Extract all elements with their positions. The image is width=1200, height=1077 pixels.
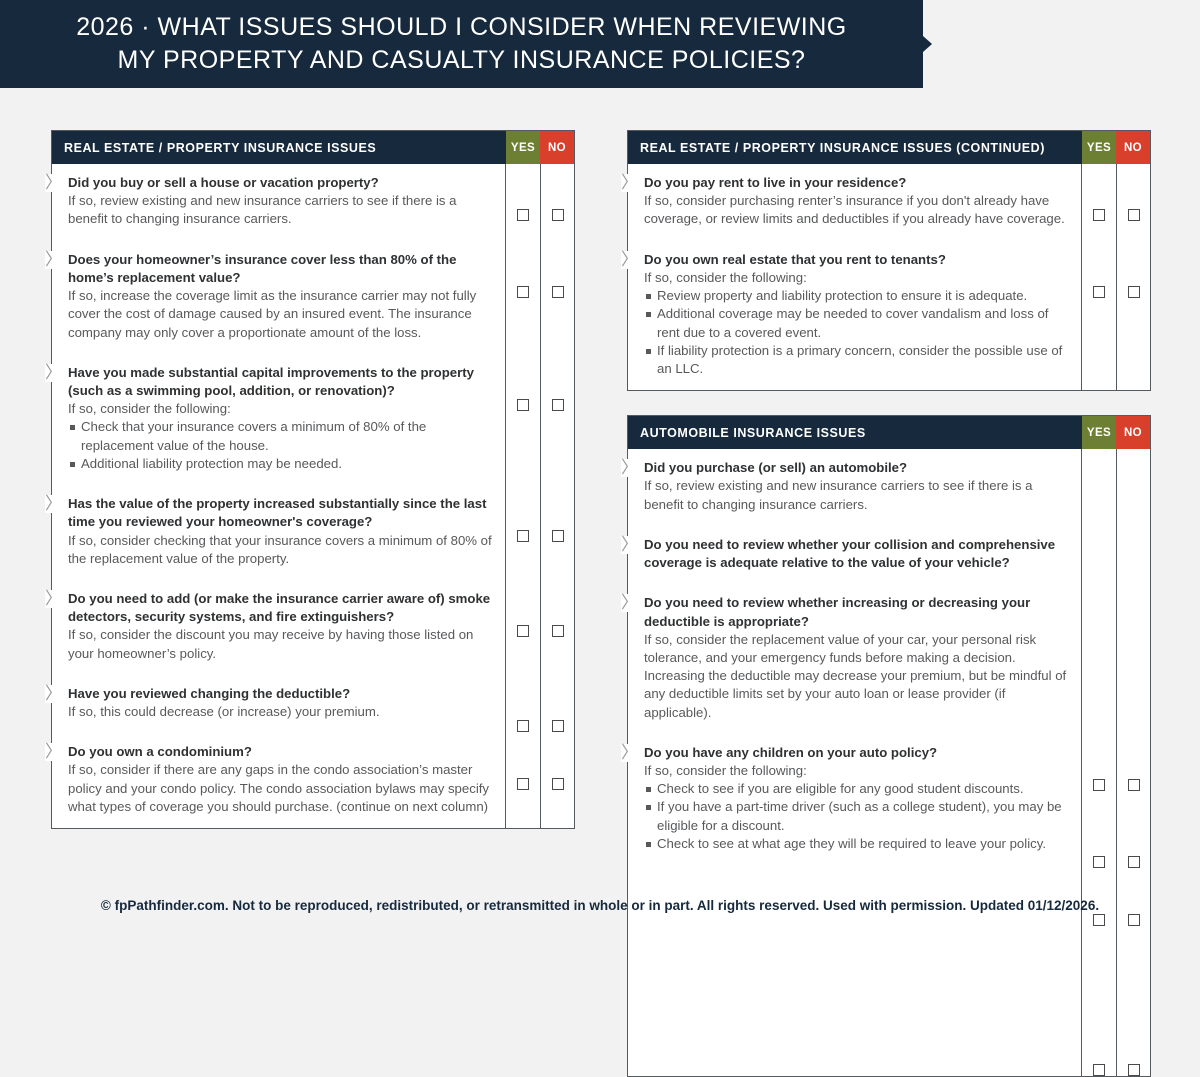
column-header-yes: YES xyxy=(506,131,540,164)
checkbox-cell-yes xyxy=(1082,1064,1116,1076)
no-checkbox[interactable] xyxy=(1128,209,1140,221)
checklist-row: 〉Has the value of the property increased… xyxy=(52,485,505,580)
question-text: Have you reviewed changing the deductibl… xyxy=(68,685,495,703)
no-checkbox[interactable] xyxy=(552,286,564,298)
footer-copyright: © fpPathfinder.com. Not to be reproduced… xyxy=(0,898,1200,913)
checklist-row: 〉Have you reviewed changing the deductib… xyxy=(52,675,505,733)
no-checkbox[interactable] xyxy=(552,625,564,637)
yes-checkbox[interactable] xyxy=(1093,1064,1105,1076)
chevron-right-icon: 〉 xyxy=(621,536,635,554)
question-list: 〉Did you purchase (or sell) an automobil… xyxy=(628,449,1081,1076)
yes-checkbox[interactable] xyxy=(517,399,529,411)
checkbox-cell-yes xyxy=(1082,856,1116,868)
checkbox-cell-no xyxy=(1117,1064,1150,1076)
checkbox-cell-no xyxy=(541,286,574,298)
card-body: 〉Did you buy or sell a house or vacation… xyxy=(52,164,574,828)
no-checkbox-column xyxy=(1116,449,1150,1076)
card-header: REAL ESTATE / PROPERTY INSURANCE ISSUES … xyxy=(628,131,1150,164)
question-text: Do you own a condominium? xyxy=(68,743,495,761)
yes-checkbox[interactable] xyxy=(517,778,529,790)
checkbox-columns xyxy=(1081,449,1150,1076)
checkbox-cell-yes xyxy=(506,625,540,637)
no-checkbox-column xyxy=(1116,164,1150,390)
checkbox-cell-no xyxy=(541,778,574,790)
no-checkbox-column xyxy=(540,164,574,828)
checklist-card-real-estate-property-insurance-issues-continued: REAL ESTATE / PROPERTY INSURANCE ISSUES … xyxy=(627,130,1151,391)
answer-bullet-item: Additional liability protection may be n… xyxy=(68,455,495,473)
checklist-row: 〉Do you own real estate that you rent to… xyxy=(628,241,1081,391)
chevron-right-icon: 〉 xyxy=(621,251,635,269)
column-header-no: NO xyxy=(1116,416,1150,449)
answer-bullet-item: If liability protection is a primary con… xyxy=(644,342,1071,378)
answer-bullet-item: Additional coverage may be needed to cov… xyxy=(644,305,1071,341)
answer-bullet-item: Check that your insurance covers a minim… xyxy=(68,418,495,454)
answer-text: If so, consider if there are any gaps in… xyxy=(68,761,495,816)
no-checkbox[interactable] xyxy=(1128,856,1140,868)
checklist-row: 〉Did you buy or sell a house or vacation… xyxy=(52,164,505,241)
card-body: 〉Do you pay rent to live in your residen… xyxy=(628,164,1150,390)
card-header: REAL ESTATE / PROPERTY INSURANCE ISSUESY… xyxy=(52,131,574,164)
question-text: Do you have any children on your auto po… xyxy=(644,744,1071,762)
answer-text: If so, review existing and new insurance… xyxy=(68,192,495,228)
yes-checkbox[interactable] xyxy=(517,720,529,732)
question-text: Do you need to add (or make the insuranc… xyxy=(68,590,495,626)
no-checkbox[interactable] xyxy=(1128,914,1140,926)
page-title: 2026 · WHAT ISSUES SHOULD I CONSIDER WHE… xyxy=(36,11,887,78)
answer-bullet-list: Check to see if you are eligible for any… xyxy=(644,780,1071,853)
chevron-right-icon: 〉 xyxy=(621,744,635,762)
question-text: Do you pay rent to live in your residenc… xyxy=(644,174,1071,192)
yes-checkbox[interactable] xyxy=(517,209,529,221)
answer-bullet-item: If you have a part-time driver (such as … xyxy=(644,798,1071,834)
no-checkbox[interactable] xyxy=(552,399,564,411)
checklist-row: 〉Do you pay rent to live in your residen… xyxy=(628,164,1081,241)
chevron-right-icon: 〉 xyxy=(45,685,59,703)
checkbox-cell-no xyxy=(541,209,574,221)
question-text: Do you need to review whether increasing… xyxy=(644,594,1071,630)
question-text: Do you own real estate that you rent to … xyxy=(644,251,1071,269)
answer-text: If so, increase the coverage limit as th… xyxy=(68,287,495,342)
question-list: 〉Did you buy or sell a house or vacation… xyxy=(52,164,505,828)
question-list: 〉Do you pay rent to live in your residen… xyxy=(628,164,1081,390)
yes-checkbox[interactable] xyxy=(1093,856,1105,868)
checklist-row: 〉Do you own a condominium?If so, conside… xyxy=(52,733,505,828)
answer-bullet-list: Review property and liability protection… xyxy=(644,287,1071,378)
answer-text: If so, review existing and new insurance… xyxy=(644,477,1071,513)
right-column: REAL ESTATE / PROPERTY INSURANCE ISSUES … xyxy=(627,130,1151,1077)
checkbox-cell-yes xyxy=(506,720,540,732)
answer-text: If so, consider checking that your insur… xyxy=(68,532,495,568)
question-text: Does your homeowner’s insurance cover le… xyxy=(68,251,495,287)
card-header: AUTOMOBILE INSURANCE ISSUESYESNO xyxy=(628,416,1150,449)
checkbox-cell-no xyxy=(541,720,574,732)
checklist-row: 〉Do you need to add (or make the insuran… xyxy=(52,580,505,675)
card-body: 〉Did you purchase (or sell) an automobil… xyxy=(628,449,1150,1076)
yes-checkbox[interactable] xyxy=(517,530,529,542)
checkbox-cell-no xyxy=(541,399,574,411)
checklist-row: 〉Do you have any children on your auto p… xyxy=(628,734,1081,865)
checkbox-cell-no xyxy=(1117,856,1150,868)
page-banner: 2026 · WHAT ISSUES SHOULD I CONSIDER WHE… xyxy=(0,0,923,88)
column-header-yes: YES xyxy=(1082,131,1116,164)
checkbox-cell-no xyxy=(541,530,574,542)
checkbox-cell-no xyxy=(541,625,574,637)
chevron-right-icon: 〉 xyxy=(45,743,59,761)
checklist-card-automobile-insurance-issues: AUTOMOBILE INSURANCE ISSUESYESNO〉Did you… xyxy=(627,415,1151,1077)
checklist-row: 〉Do you need to review whether your coll… xyxy=(628,526,1081,584)
answer-text: If so, consider the following: xyxy=(644,269,1071,287)
chevron-right-icon: 〉 xyxy=(45,590,59,608)
yes-checkbox[interactable] xyxy=(1093,914,1105,926)
checkbox-cell-yes xyxy=(1082,209,1116,221)
no-checkbox[interactable] xyxy=(1128,286,1140,298)
page-title-line-2: MY PROPERTY AND CASUALTY INSURANCE POLIC… xyxy=(76,44,847,77)
chevron-right-icon: 〉 xyxy=(45,251,59,269)
yes-checkbox[interactable] xyxy=(517,625,529,637)
chevron-right-icon: 〉 xyxy=(45,174,59,192)
question-text: Have you made substantial capital improv… xyxy=(68,364,495,400)
question-text: Did you purchase (or sell) an automobile… xyxy=(644,459,1071,477)
question-text: Do you need to review whether your colli… xyxy=(644,536,1071,572)
yes-checkbox[interactable] xyxy=(517,286,529,298)
checklist-row: 〉Does your homeowner’s insurance cover l… xyxy=(52,241,505,354)
checkbox-columns xyxy=(1081,164,1150,390)
chevron-right-icon: 〉 xyxy=(45,495,59,513)
answer-bullet-item: Review property and liability protection… xyxy=(644,287,1071,305)
no-checkbox[interactable] xyxy=(552,720,564,732)
answer-bullet-list: Check that your insurance covers a minim… xyxy=(68,418,495,473)
checkbox-cell-yes xyxy=(1082,286,1116,298)
no-checkbox[interactable] xyxy=(1128,779,1140,791)
column-header-no: NO xyxy=(540,131,574,164)
left-column: REAL ESTATE / PROPERTY INSURANCE ISSUESY… xyxy=(51,130,575,829)
column-header-no: NO xyxy=(1116,131,1150,164)
card-header-title: REAL ESTATE / PROPERTY INSURANCE ISSUES … xyxy=(628,131,1082,164)
answer-text: If so, consider the following: xyxy=(644,762,1071,780)
yes-checkbox[interactable] xyxy=(1093,209,1105,221)
checkbox-cell-no xyxy=(1117,914,1150,926)
checkbox-cell-yes xyxy=(1082,779,1116,791)
answer-bullet-item: Check to see if you are eligible for any… xyxy=(644,780,1071,798)
checklist-sheet: REAL ESTATE / PROPERTY INSURANCE ISSUESY… xyxy=(0,88,1200,927)
yes-checkbox-column xyxy=(1082,449,1116,1076)
yes-checkbox[interactable] xyxy=(1093,286,1105,298)
checklist-row: 〉Have you made substantial capital impro… xyxy=(52,354,505,485)
checklist-row: 〉Do you need to review whether increasin… xyxy=(628,584,1081,734)
answer-text: If so, consider the discount you may rec… xyxy=(68,626,495,662)
checklist-row: 〉Did you purchase (or sell) an automobil… xyxy=(628,449,1081,526)
checkbox-cell-yes xyxy=(506,399,540,411)
banner-arrow-icon xyxy=(923,36,932,52)
checkbox-cell-yes xyxy=(506,209,540,221)
page-title-line-1: 2026 · WHAT ISSUES SHOULD I CONSIDER WHE… xyxy=(76,11,847,44)
answer-text: If so, this could decrease (or increase)… xyxy=(68,703,495,721)
chevron-right-icon: 〉 xyxy=(621,459,635,477)
answer-text: If so, consider purchasing renter’s insu… xyxy=(644,192,1071,228)
no-checkbox[interactable] xyxy=(552,209,564,221)
checkbox-cell-yes xyxy=(1082,914,1116,926)
chevron-right-icon: 〉 xyxy=(621,174,635,192)
checkbox-columns xyxy=(505,164,574,828)
answer-bullet-item: Check to see at what age they will be re… xyxy=(644,835,1071,853)
card-header-title: REAL ESTATE / PROPERTY INSURANCE ISSUES xyxy=(52,131,506,164)
chevron-right-icon: 〉 xyxy=(621,594,635,612)
checkbox-cell-yes xyxy=(506,778,540,790)
checkbox-cell-yes xyxy=(506,286,540,298)
checkbox-cell-yes xyxy=(506,530,540,542)
column-header-yes: YES xyxy=(1082,416,1116,449)
no-checkbox[interactable] xyxy=(552,778,564,790)
question-text: Has the value of the property increased … xyxy=(68,495,495,531)
yes-checkbox[interactable] xyxy=(1093,779,1105,791)
checklist-card-real-estate-property-insurance-issues: REAL ESTATE / PROPERTY INSURANCE ISSUESY… xyxy=(51,130,575,829)
question-text: Did you buy or sell a house or vacation … xyxy=(68,174,495,192)
yes-checkbox-column xyxy=(1082,164,1116,390)
no-checkbox[interactable] xyxy=(552,530,564,542)
checkbox-cell-no xyxy=(1117,286,1150,298)
no-checkbox[interactable] xyxy=(1128,1064,1140,1076)
checkbox-cell-no xyxy=(1117,779,1150,791)
card-header-title: AUTOMOBILE INSURANCE ISSUES xyxy=(628,416,1082,449)
checklist-columns: REAL ESTATE / PROPERTY INSURANCE ISSUESY… xyxy=(51,130,1151,1077)
answer-text: If so, consider the replacement value of… xyxy=(644,631,1071,722)
checkbox-cell-no xyxy=(1117,209,1150,221)
answer-text: If so, consider the following: xyxy=(68,400,495,418)
chevron-right-icon: 〉 xyxy=(45,364,59,382)
yes-checkbox-column xyxy=(506,164,540,828)
